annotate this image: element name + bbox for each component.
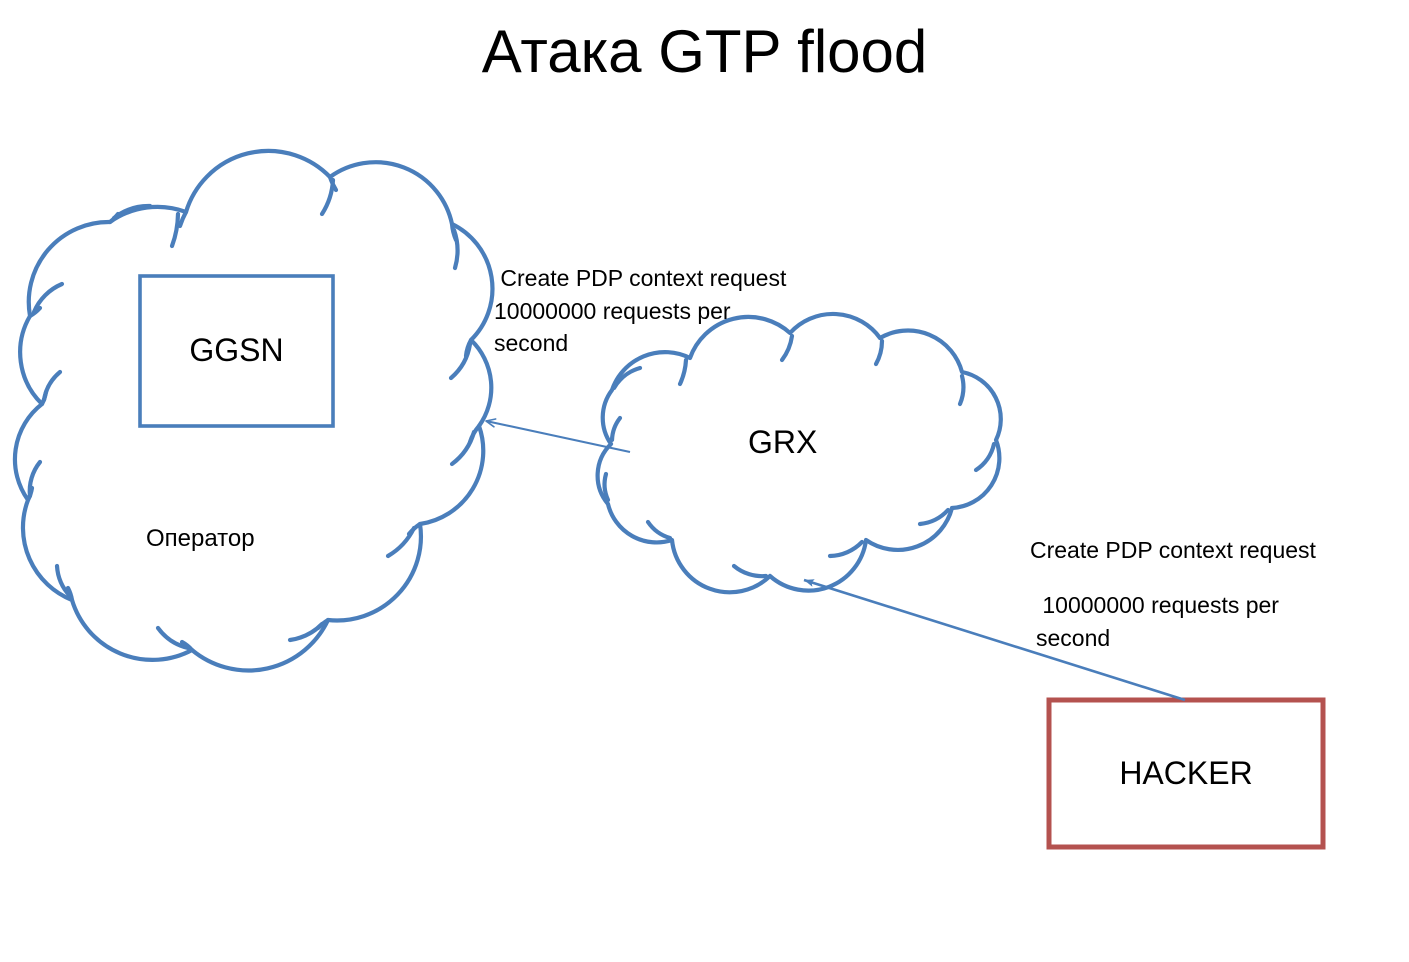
operator-cloud-label: Оператор <box>146 524 255 555</box>
connector-label-hacker-to-grx-line1: Create PDP context request <box>1030 536 1390 565</box>
page-title: Атака GTP flood <box>0 14 1409 91</box>
diagram-graphics <box>0 0 1409 962</box>
grx-cloud-label: GRX <box>748 422 817 463</box>
hacker-box-label: HACKER <box>1049 753 1323 794</box>
ggsn-box-label: GGSN <box>140 330 333 371</box>
connector-label-hacker-to-grx-line2: 10000000 requests per second <box>1036 589 1376 654</box>
connector-label-grx-to-operator: Create PDP context request 10000000 requ… <box>494 262 834 360</box>
slide-canvas: Атака GTP flood GGSN Оператор GRX HACKER… <box>0 0 1409 962</box>
